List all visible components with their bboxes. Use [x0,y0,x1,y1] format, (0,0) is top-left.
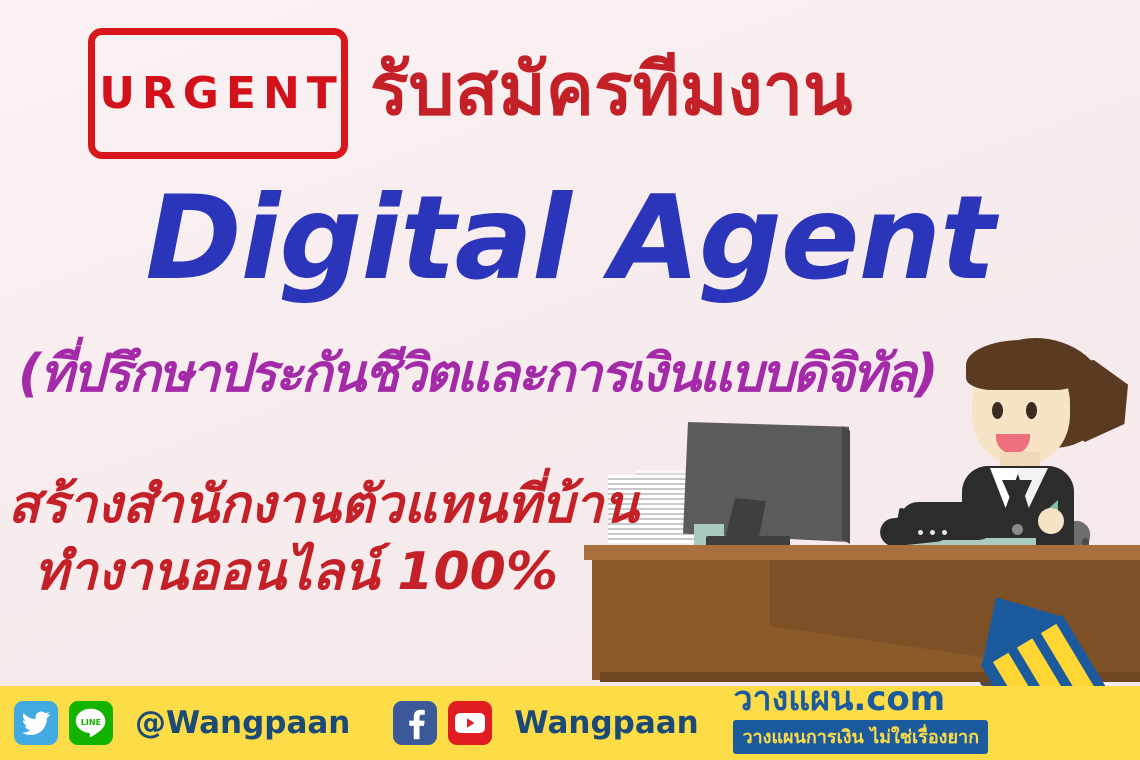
line-icon[interactable]: LINE [69,701,113,745]
monitor-foot-accent [694,524,724,546]
hand [1038,508,1064,534]
brand-name: วางแผน.com [733,681,945,718]
cuff-dot [918,530,923,535]
subtitle-role-description: (ที่ปรึกษาประกันชีวิตและการเงินแบบดิจิทั… [18,331,936,414]
social-handles-group: LINE @Wangpaan Wangpaan [14,701,705,745]
body-copy: สร้างสำนักงานตัวแทนที่บ้าน ทำงานออนไลน์ … [8,472,639,605]
ear [1036,398,1052,418]
eye-left [992,402,1003,419]
brand-tagline: วางแผนการเงิน ไม่ใช่เรื่องยาก [733,720,988,754]
youtube-icon[interactable] [448,701,492,745]
collar-right [1016,468,1048,508]
desk-top [584,545,1140,560]
cuff-dot [930,530,935,535]
headline-recruiting: รับสมัครทีมงาน [370,44,852,134]
social-handle-text: @Wangpaan [135,705,350,741]
footer-bar: LINE @Wangpaan Wangpaan [0,686,1140,760]
desk-mat [906,538,1036,548]
hair-front [966,340,1078,390]
suit-button-top [1012,524,1023,535]
poster-canvas: URGENT รับสมัครทีมงาน Digital Agent (ที่… [0,0,1140,760]
ponytail-tie [1030,375,1050,407]
svg-text:LINE: LINE [81,718,101,727]
hair-back [975,338,1107,448]
mouth [996,434,1030,454]
page-handles-group: Wangpaan [393,701,704,745]
suit-button-bottom [1012,572,1023,583]
neck [1000,452,1040,478]
brand-logo[interactable]: วางแผน.com วางแผนการเงิน ไม่ใช่เรื่องยาก [733,681,988,754]
face [972,352,1070,464]
facebook-icon[interactable] [393,701,437,745]
pen-icon [893,508,906,548]
urgent-badge: URGENT [88,28,348,159]
page-handle-text: Wangpaan [514,705,698,741]
body-line-2: ทำงานออนไลน์ 100% [8,539,639,606]
twitter-icon[interactable] [14,701,58,745]
cuff-dot [942,530,947,535]
paper-stack-back [636,470,728,542]
lapel [1002,480,1032,514]
cuff-accent [1040,500,1058,516]
arm-lower [879,512,952,547]
urgent-label: URGENT [92,68,344,119]
monitor-base [706,536,790,548]
page-title: Digital Agent [0,178,1140,300]
monitor-neck [722,498,766,550]
body-line-1: สร้างสำนักงานตัวแทนที่บ้าน [8,472,639,539]
monitor-bezel-edge [842,426,850,544]
collar-left [990,468,1020,508]
eye-right [1026,402,1037,419]
ponytail [1038,360,1128,442]
monitor-screen [683,422,849,542]
arm-upper [900,502,996,540]
